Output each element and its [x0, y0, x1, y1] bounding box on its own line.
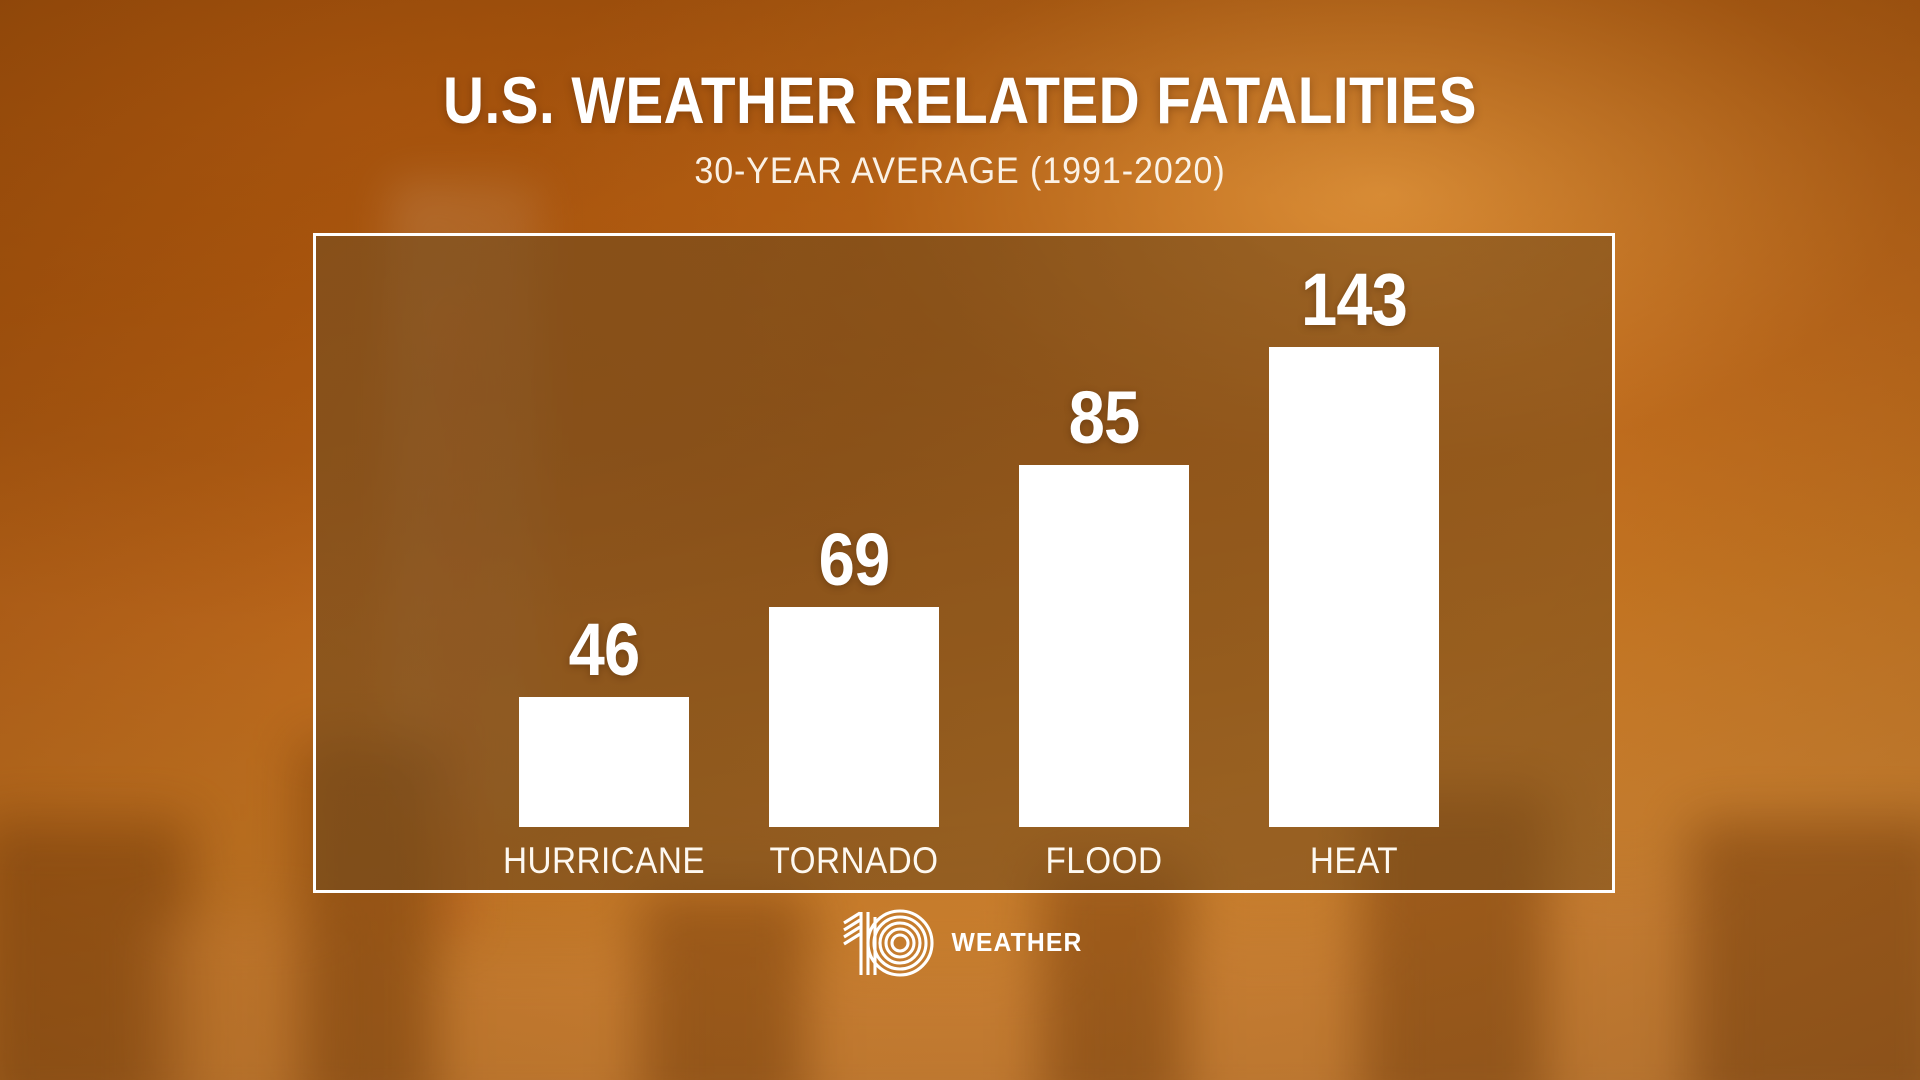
bar-value-heat: 143: [1253, 263, 1455, 337]
bar-value-tornado: 69: [753, 523, 955, 597]
bar-hurricane: [519, 697, 689, 827]
page-subtitle: 30-YEAR AVERAGE (1991-2020): [77, 150, 1843, 192]
bar-value-hurricane: 46: [503, 613, 705, 687]
channel-10-logo-icon: [834, 907, 938, 979]
bar-label-hurricane: HURRICANE: [474, 840, 735, 882]
infographic: U.S. WEATHER RELATED FATALITIES 30-YEAR …: [0, 0, 1920, 1080]
logo-wordmark: WEATHER: [951, 927, 1082, 958]
bar-chart: 46 HURRICANE 69 TORNADO 85 FLOOD 143 HEA…: [316, 236, 1612, 890]
channel-logo: WEATHER: [0, 903, 1920, 983]
bar-heat: [1269, 347, 1439, 827]
bar-tornado: [769, 607, 939, 827]
bar-flood: [1019, 465, 1189, 827]
chart-panel: 46 HURRICANE 69 TORNADO 85 FLOOD 143 HEA…: [313, 233, 1615, 893]
bar-label-flood: FLOOD: [974, 840, 1235, 882]
bar-label-heat: HEAT: [1224, 840, 1485, 882]
bar-label-tornado: TORNADO: [724, 840, 985, 882]
bar-value-flood: 85: [1003, 381, 1205, 455]
page-title: U.S. WEATHER RELATED FATALITIES: [134, 62, 1785, 138]
